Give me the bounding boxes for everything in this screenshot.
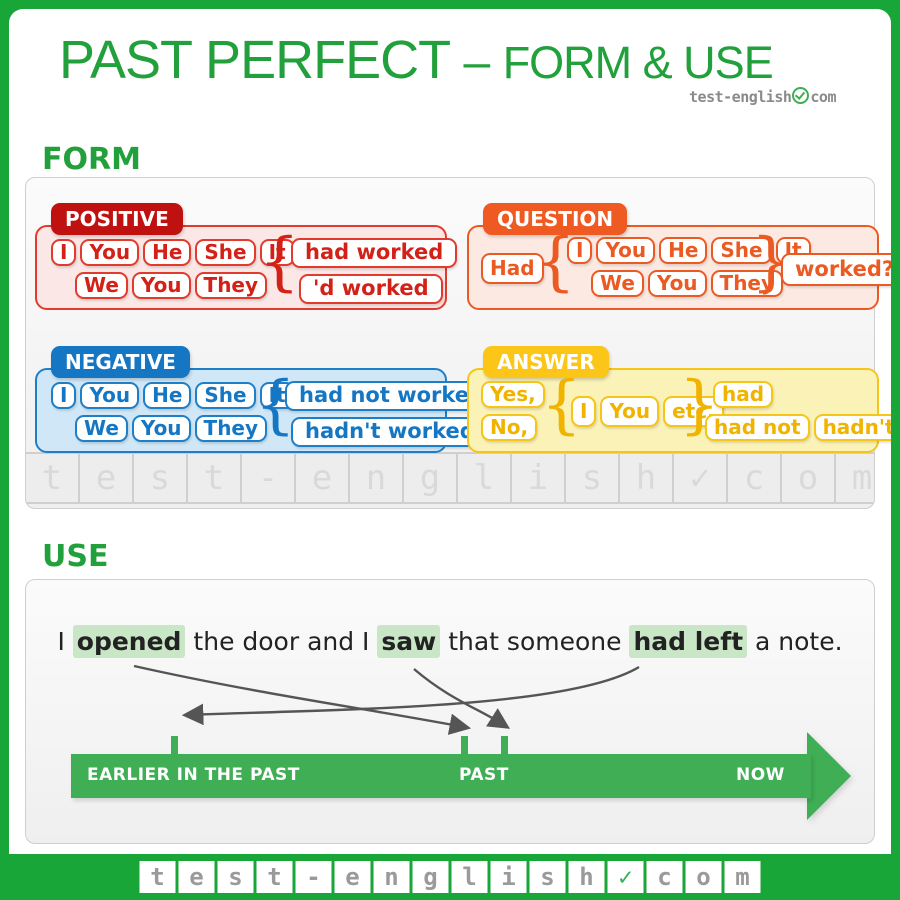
positive-verb-row-1: had worked	[289, 238, 459, 268]
negative-box: NEGATIVE IYouHeSheIt WeYouThey { had not…	[35, 368, 447, 453]
sentence-highlight: saw	[377, 625, 440, 658]
title-dash: –	[464, 36, 490, 89]
subject-pill: I	[567, 237, 592, 264]
watermark-form: t e s t - e n g l i s h ✓ c o m	[25, 452, 875, 504]
footer-tile: t	[140, 861, 176, 893]
watermark-tile: ✓	[674, 454, 726, 502]
footer-tile: i	[491, 861, 527, 893]
subject-pill: You	[596, 237, 655, 264]
footer-tile: g	[413, 861, 449, 893]
subject-pill: We	[75, 415, 128, 442]
positive-verb-row-2: 'd worked	[289, 274, 459, 304]
footer-check-icon: ✓	[608, 861, 644, 893]
watermark-tile: g	[404, 454, 456, 502]
sentence-part: I	[57, 627, 72, 656]
watermark-tile: s	[134, 454, 186, 502]
subject-pill: He	[143, 239, 191, 266]
question-box: QUESTION Had { IYouHeSheIt WeYouThey } w…	[467, 225, 879, 310]
subject-pill: I	[51, 382, 76, 409]
subject-pill: I	[51, 239, 76, 266]
watermark-tile: t	[188, 454, 240, 502]
subject-pill: She	[195, 382, 255, 409]
subject-pill: You	[80, 382, 139, 409]
answer-box: ANSWER Yes, No, { IYouetc. } had had not…	[467, 368, 879, 453]
footer-tile: -	[296, 861, 332, 893]
watermark-tile: e	[80, 454, 132, 502]
footer-tile: t	[257, 861, 293, 893]
subject-pill: He	[659, 237, 707, 264]
answer-no-row: No,	[479, 414, 547, 441]
answer-negative-row: had nothadn't	[703, 414, 891, 441]
footer-tile: n	[374, 861, 410, 893]
no-pill: No,	[481, 414, 537, 441]
watermark-tile: e	[296, 454, 348, 502]
subject-pill: They	[195, 272, 267, 299]
answer-pill: had not	[705, 414, 810, 441]
timeline-tick-past-1	[461, 736, 468, 756]
verb-pill: worked?	[781, 253, 891, 286]
watermark-tile: h	[620, 454, 672, 502]
footer-tile: m	[725, 861, 761, 893]
verb-pill: hadn't worked	[291, 417, 489, 447]
subject-pill: She	[195, 239, 255, 266]
positive-label: POSITIVE	[51, 203, 183, 235]
sentence-part: that someone	[440, 627, 629, 656]
positive-box: POSITIVE IYouHeSheIt WeYouThey { had wor…	[35, 225, 447, 310]
watermark-tile: l	[458, 454, 510, 502]
page-inner: PAST PERFECT – FORM & USE test-englishco…	[9, 9, 891, 891]
watermark-tile: n	[350, 454, 402, 502]
footer-tile: s	[530, 861, 566, 893]
site-logo: test-englishcom	[689, 87, 836, 106]
footer-tile: o	[686, 861, 722, 893]
form-heading: FORM	[42, 142, 141, 177]
watermark-tile: m	[836, 454, 875, 502]
footer-tile: h	[569, 861, 605, 893]
footer-tile: l	[452, 861, 488, 893]
footer-logo: t e s t - e n g l i s h ✓ c o m	[140, 861, 761, 893]
subject-pill: He	[143, 382, 191, 409]
footer-bar: t e s t - e n g l i s h ✓ c o m	[0, 854, 900, 900]
timeline-arrowhead-icon	[807, 732, 851, 820]
watermark-tile: o	[782, 454, 834, 502]
answer-pill: had	[713, 381, 773, 408]
use-heading: USE	[42, 539, 108, 574]
yes-pill: Yes,	[481, 381, 545, 408]
timeline-label-now: NOW	[736, 765, 785, 785]
use-panel	[25, 579, 875, 844]
sentence-highlight: had left	[629, 625, 747, 658]
logo-text-left: test-english	[689, 88, 791, 106]
answer-yes-row: Yes,	[479, 381, 547, 408]
timeline-tick-past-2	[501, 736, 508, 756]
subject-pill: You	[132, 272, 191, 299]
subject-pill: You	[600, 396, 659, 427]
verb-pill: had worked	[291, 238, 457, 268]
watermark-tile: t	[26, 454, 78, 502]
sentence-part: the door and I	[185, 627, 377, 656]
subject-pill: You	[648, 270, 707, 297]
subject-pill: We	[591, 270, 644, 297]
page-frame: PAST PERFECT – FORM & USE test-englishco…	[0, 0, 900, 900]
footer-tile: c	[647, 861, 683, 893]
check-circle-icon	[792, 87, 809, 104]
page-title: PAST PERFECT – FORM & USE	[59, 29, 773, 91]
verb-pill: 'd worked	[299, 274, 443, 304]
title-part-1: PAST PERFECT	[59, 30, 450, 90]
watermark-tile: i	[512, 454, 564, 502]
watermark-tile: c	[728, 454, 780, 502]
subject-pill: You	[80, 239, 139, 266]
answer-affirmative-row: had	[711, 381, 891, 408]
footer-tile: e	[179, 861, 215, 893]
negative-label: NEGATIVE	[51, 346, 190, 378]
example-sentence: I opened the door and I saw that someone…	[9, 627, 891, 656]
sentence-highlight: opened	[73, 625, 186, 658]
logo-text-right: com	[810, 88, 836, 106]
subject-pill: You	[132, 415, 191, 442]
timeline-tick-earlier	[171, 736, 178, 756]
title-part-2: FORM & USE	[503, 37, 773, 88]
watermark-tile: -	[242, 454, 294, 502]
footer-tile: s	[218, 861, 254, 893]
subject-pill: I	[571, 396, 596, 427]
subject-pill: We	[75, 272, 128, 299]
sentence-part: a note.	[747, 627, 842, 656]
answer-pill: hadn't	[814, 414, 891, 441]
timeline-label-past: PAST	[459, 765, 509, 785]
footer-tile: e	[335, 861, 371, 893]
watermark-tile: s	[566, 454, 618, 502]
timeline-label-earlier: EARLIER IN THE PAST	[87, 765, 300, 785]
